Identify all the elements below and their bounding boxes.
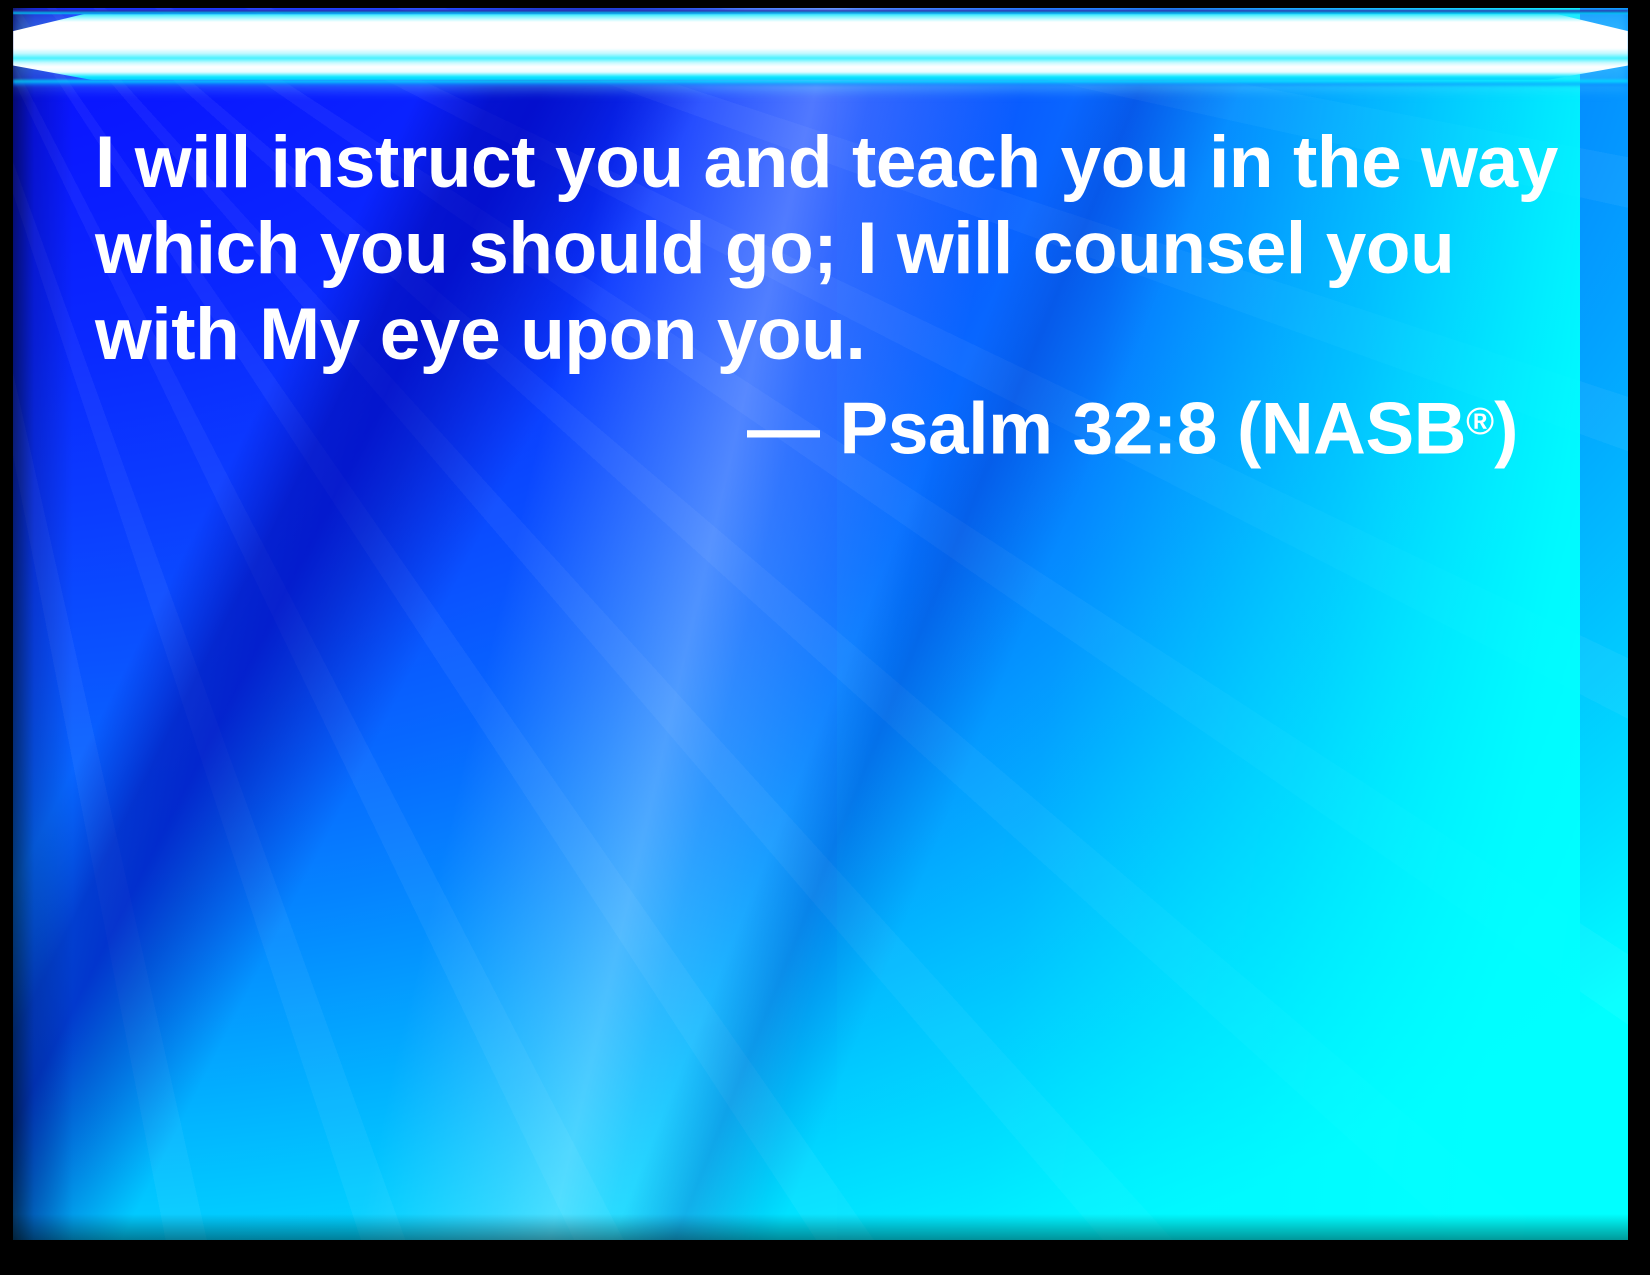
slide-root: I will instruct you and teach you in the… [0, 0, 1650, 1275]
verse-artboard: I will instruct you and teach you in the… [13, 8, 1628, 1240]
background-fan-rays [13, 8, 1628, 1240]
